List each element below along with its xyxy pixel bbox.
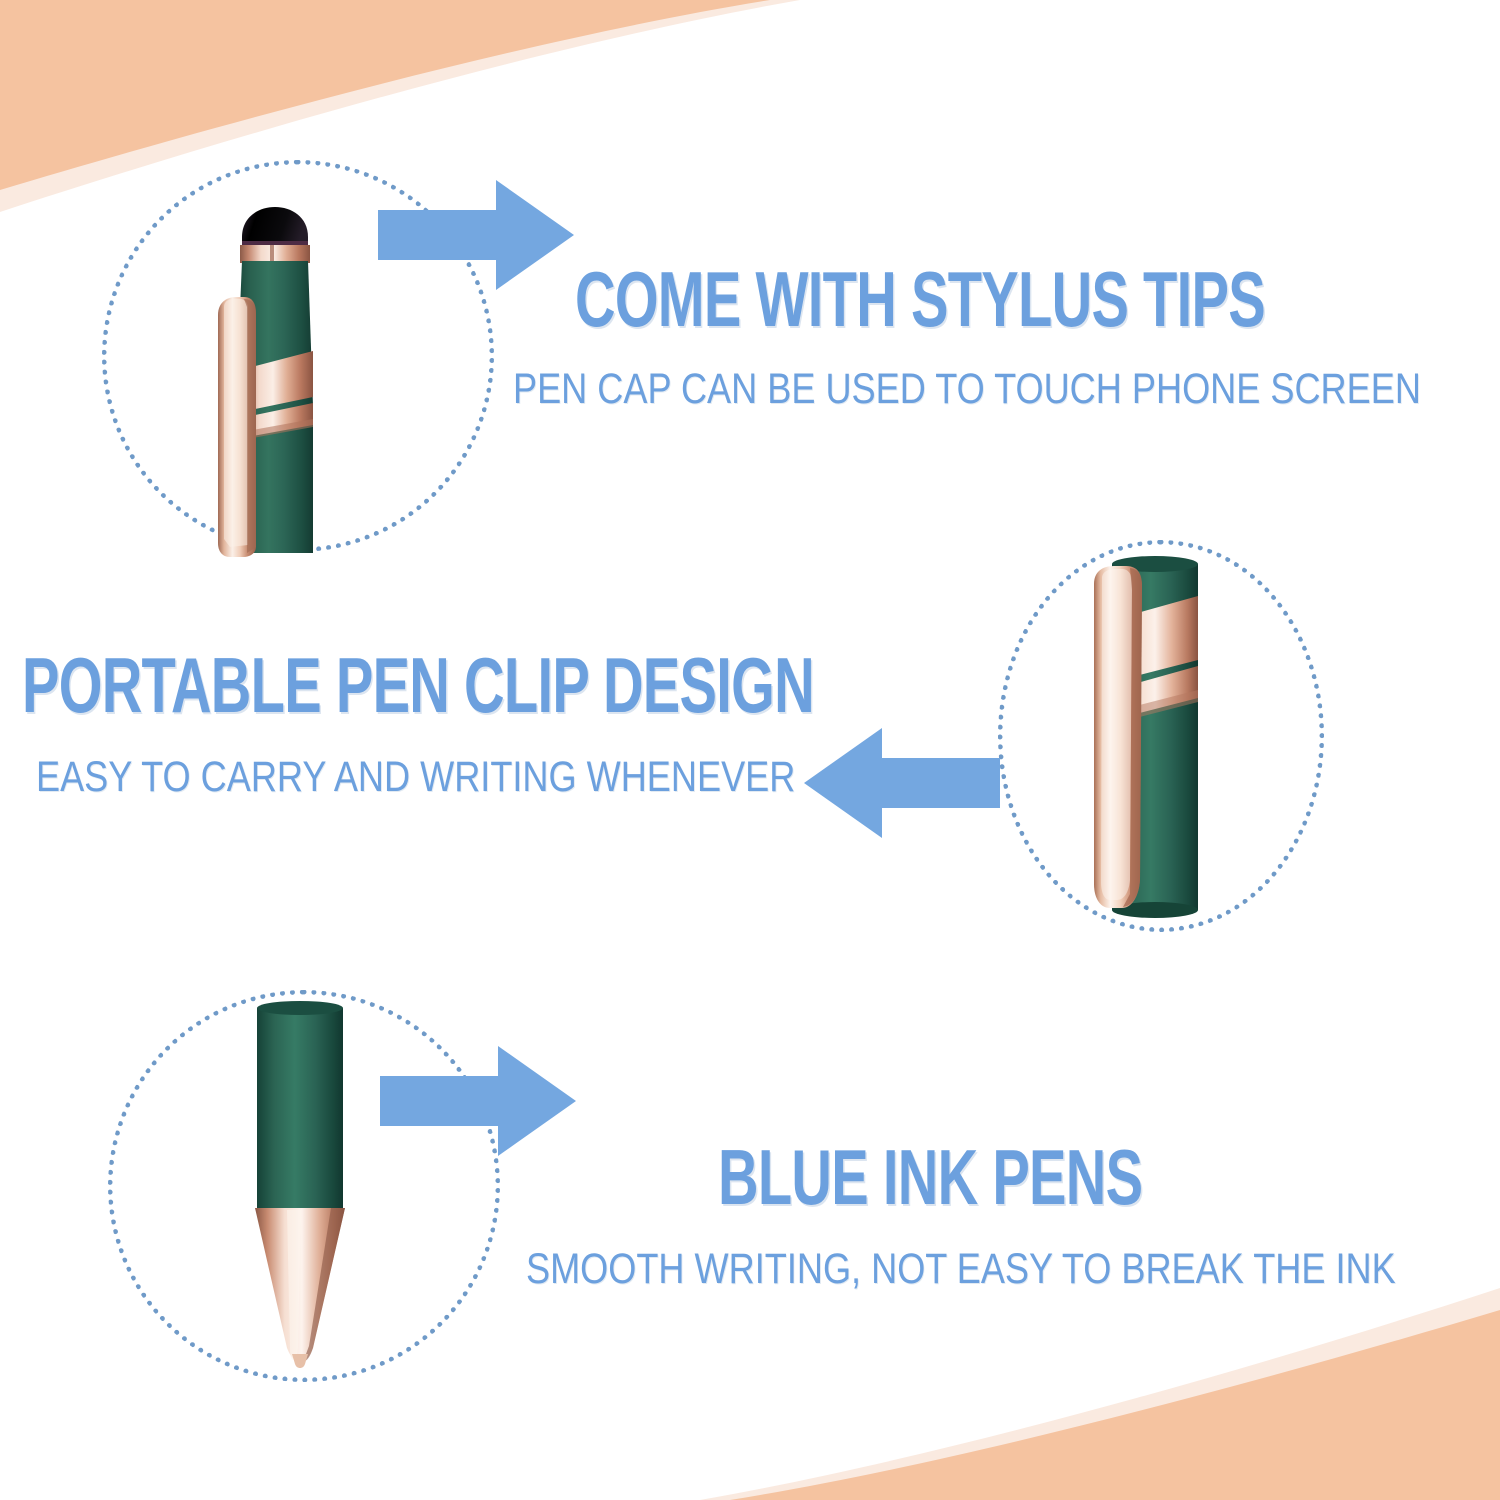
pen-image-tip [235, 996, 365, 1368]
arrow-right-icon-stylus [378, 180, 578, 290]
stylus-tips-heading: COME WITH STYLUS TIPS [575, 262, 1194, 336]
feature-pen-clip: PORTABLE PEN CLIP DESIGN EASY TO CARRY A… [0, 500, 1500, 960]
pen-clip-subtitle: EASY TO CARRY AND WRITING WHENEVER [36, 754, 755, 801]
feature-stylus-tips: COME WITH STYLUS TIPS PEN CAP CAN BE USE… [0, 0, 1500, 500]
pen-clip-heading: PORTABLE PEN CLIP DESIGN [22, 648, 648, 722]
infographic-page: COME WITH STYLUS TIPS PEN CAP CAN BE USE… [0, 0, 1500, 1500]
blue-ink-heading: BLUE INK PENS [718, 1140, 1337, 1214]
pen-image-clip [1070, 550, 1230, 925]
blue-ink-subtitle: SMOOTH WRITING, NOT EASY TO BREAK THE IN… [526, 1246, 1410, 1293]
feature-blue-ink: BLUE INK PENS SMOOTH WRITING, NOT EASY T… [0, 960, 1500, 1430]
stylus-tips-subtitle: PEN CAP CAN BE USED TO TOUCH PHONE SCREE… [513, 366, 1287, 413]
blue-ink-text-block: BLUE INK PENS SMOOTH WRITING, NOT EASY T… [718, 1140, 1500, 1293]
pen-clip-text-block: PORTABLE PEN CLIP DESIGN EASY TO CARRY A… [22, 648, 892, 801]
stylus-tips-text-block: COME WITH STYLUS TIPS PEN CAP CAN BE USE… [575, 262, 1435, 413]
arrow-right-icon-ink [380, 1046, 580, 1156]
